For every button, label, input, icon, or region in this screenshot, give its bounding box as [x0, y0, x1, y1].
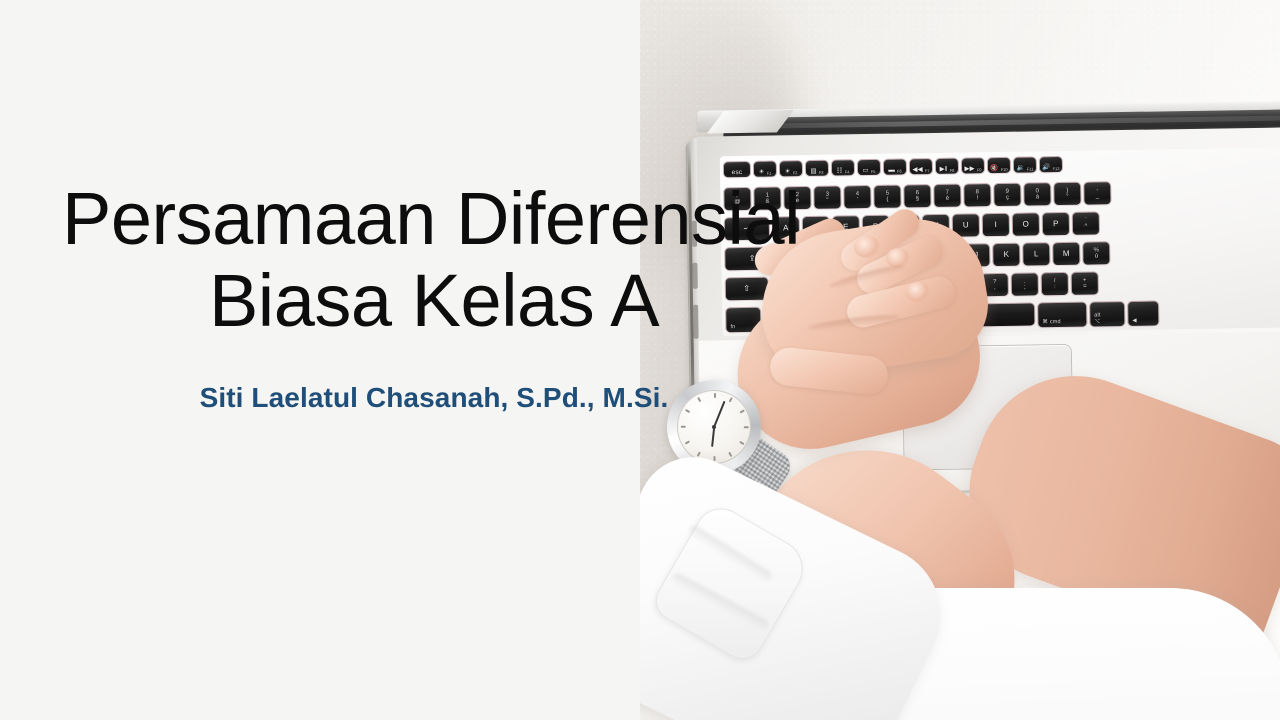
key-l[interactable]: L: [1023, 243, 1049, 265]
key-key[interactable]: 🔉F11: [1014, 157, 1036, 172]
slide-subtitle-author: Siti Laelatul Chasanah, S.Pd., M.Si.: [40, 382, 828, 414]
key-4[interactable]: 4': [844, 186, 870, 208]
key-legend-sub: F1: [767, 171, 772, 175]
key-key[interactable]: ▶‖F8: [936, 159, 958, 174]
key-legend-sub: F10: [1001, 167, 1008, 171]
key-legend: ◀◀: [912, 167, 923, 174]
key-legend: ☀: [785, 169, 791, 176]
key-i[interactable]: I: [983, 214, 1009, 236]
key-legend-bottom: ^: [1084, 224, 1087, 230]
key-key[interactable]: ◀◀F7: [910, 159, 932, 174]
key-key[interactable]: 🔊F12: [1040, 157, 1062, 172]
key-legend-sub: F11: [1027, 167, 1034, 171]
watch-pivot: [712, 425, 716, 429]
watch-tick: [739, 441, 744, 445]
key-legend-bottom: ç: [1006, 195, 1009, 201]
key-5[interactable]: 5(: [874, 186, 900, 208]
key-legend: ▶▶: [964, 166, 975, 173]
key-legend-bottom: !: [977, 195, 979, 201]
key-legend: I: [995, 221, 998, 229]
key-key[interactable]: ☀F1: [754, 161, 776, 176]
key-legend: ⌘ cmd: [1042, 320, 1061, 326]
title-line-1: Persamaan Diferensial: [62, 178, 828, 261]
key-key[interactable]: /:: [1042, 273, 1068, 295]
key-legend-sub: F2: [793, 171, 798, 175]
key-legend: 🔉: [1016, 165, 1024, 172]
key-legend: ☷: [837, 168, 843, 175]
watch-tick: [681, 426, 686, 428]
key-legend-sub: F6: [897, 169, 902, 173]
key-legend: ▤: [810, 168, 816, 175]
key-key[interactable]: )°: [1054, 183, 1080, 205]
key-legend-bottom: §: [916, 196, 919, 202]
key-legend: 🔊: [1042, 165, 1050, 172]
key-legend-bottom: °: [1066, 194, 1069, 200]
key-6[interactable]: 6§: [904, 185, 930, 207]
key-legend-sub: F4: [845, 170, 850, 174]
key-legend: U: [963, 221, 969, 229]
key-key[interactable]: ▬F6: [884, 159, 906, 174]
watch-tick: [744, 426, 749, 428]
key-key[interactable]: %ù: [1083, 242, 1109, 264]
key-legend: M: [1063, 250, 1070, 258]
key-legend: ◀: [1132, 318, 1137, 324]
key-o[interactable]: O: [1013, 213, 1039, 235]
key-key[interactable]: .;: [1012, 273, 1038, 295]
key-legend-sub: F3: [819, 170, 824, 174]
key-key[interactable]: ¨^: [1073, 212, 1099, 234]
title-slide-photo: esc☀F1☀F2▤F3☷F4▭F5▬F6◀◀F7▶‖F8▶▶F9🔇F10🔉F1…: [640, 0, 1280, 720]
key-7[interactable]: 7è: [934, 185, 960, 207]
key-key[interactable]: ☀F2: [780, 161, 802, 176]
key-key[interactable]: ▶▶F9: [962, 158, 984, 173]
key-legend-bottom: :: [1054, 284, 1056, 290]
key-legend-sub: F12: [1053, 167, 1060, 171]
key-key[interactable]: ◀: [1128, 301, 1158, 325]
key-legend: K: [1003, 251, 1009, 259]
watch-tick: [685, 441, 690, 445]
key-legend-bottom: ': [857, 197, 858, 203]
key-legend-bottom: (: [886, 197, 888, 203]
key-key[interactable]: ▤F3: [806, 161, 828, 176]
watch-tick: [729, 452, 733, 457]
key-legend: ▬: [888, 167, 895, 174]
key-key[interactable]: -_: [1084, 182, 1110, 204]
key-legend: O: [1023, 221, 1030, 229]
key-legend: esc: [732, 170, 743, 177]
key-legend-sub: F5: [871, 169, 876, 173]
key-legend-sub: F8: [950, 168, 955, 172]
key-8[interactable]: 8!: [964, 184, 990, 206]
key-legend: ▶‖: [940, 166, 948, 173]
key-cmd[interactable]: ⌘ cmd: [1038, 303, 1086, 328]
key-legend-bottom: ,: [994, 285, 996, 291]
key-legend-bottom: à: [1036, 194, 1039, 200]
key-esc[interactable]: esc: [724, 162, 750, 177]
knuckle-3: [906, 282, 930, 302]
key-legend-sub: ⌥: [1094, 319, 1100, 324]
key-key[interactable]: ▭F5: [858, 160, 880, 175]
key-legend: ▭: [862, 168, 868, 175]
key-key[interactable]: ☷F4: [832, 160, 854, 175]
key-legend-bottom: ù: [1095, 253, 1098, 259]
key-k[interactable]: K: [993, 244, 1019, 266]
key-legend: L: [1034, 250, 1039, 258]
key-legend: P: [1053, 220, 1059, 228]
key-legend-bottom: ;: [1024, 285, 1026, 291]
key-alt[interactable]: alt⌥: [1090, 302, 1124, 327]
key-legend: ☀: [759, 169, 765, 176]
knuckle-1: [854, 236, 880, 258]
key-legend: 🔇: [990, 165, 998, 172]
key-legend-sub: F9: [977, 168, 982, 172]
key-0[interactable]: 0à: [1024, 183, 1050, 205]
page-title: Persamaan Diferensial Biasa Kelas A: [40, 178, 828, 344]
key-p[interactable]: P: [1043, 213, 1069, 235]
presentation-slide: esc☀F1☀F2▤F3☷F4▭F5▬F6◀◀F7▶‖F8▶▶F9🔇F10🔉F1…: [0, 0, 1280, 720]
key-legend-bottom: è: [946, 196, 949, 202]
key-m[interactable]: M: [1053, 243, 1079, 265]
watch-hour-hand: [711, 427, 715, 447]
title-line-2: Biasa Kelas A: [40, 260, 828, 343]
key-legend-bottom: =: [1083, 284, 1087, 290]
key-9[interactable]: 9ç: [994, 184, 1020, 206]
key-key[interactable]: +=: [1072, 272, 1098, 294]
key-legend-bottom: _: [1096, 193, 1099, 199]
key-key[interactable]: 🔇F10: [988, 158, 1010, 173]
key-legend-sub: F7: [925, 169, 930, 173]
